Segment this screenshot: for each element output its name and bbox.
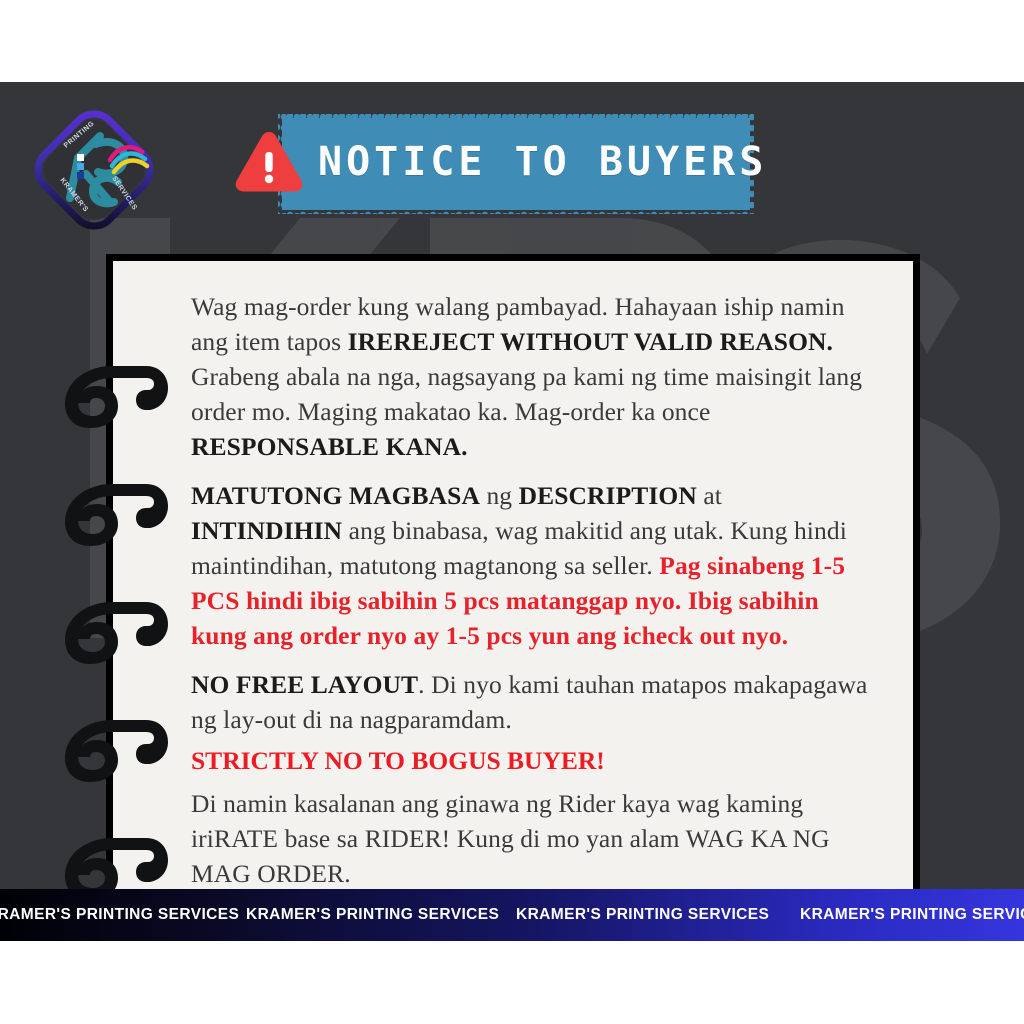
brand-logo: PRINTING KRAMER'S SERVICES bbox=[26, 102, 162, 238]
p1-bold-2: RESPONSABLE KANA. bbox=[191, 432, 468, 461]
p2-text-1: ng bbox=[480, 481, 519, 510]
notice-banner: NOTICE TO BUYERS bbox=[232, 110, 762, 222]
p2-bold-3: INTINDIHIN bbox=[191, 516, 342, 545]
notice-paragraph-3: NO FREE LAYOUT. Di nyo kami tauhan matap… bbox=[191, 667, 879, 737]
p2-bold-2: DESCRIPTION bbox=[519, 481, 697, 510]
footer-brand-text: KRAMER'S PRINTING SERVICES bbox=[800, 906, 1024, 924]
letterbox-bottom bbox=[0, 941, 1024, 1024]
notice-paragraph-1: Wag mag-order kung walang pambayad. Haha… bbox=[191, 289, 879, 464]
notice-paper: Wag mag-order kung walang pambayad. Haha… bbox=[113, 261, 913, 933]
letterbox-top bbox=[0, 0, 1024, 82]
p5-text-1: Di namin kasalanan ang ginawa ng Rider k… bbox=[191, 789, 830, 888]
p3-bold-1: NO FREE LAYOUT bbox=[191, 670, 418, 699]
poster-canvas: PRINTING KRAMER'S SERVICES NOTICE TO BUY… bbox=[0, 82, 1024, 941]
page-title: NOTICE TO BUYERS bbox=[318, 130, 767, 194]
notice-card: Wag mag-order kung walang pambayad. Haha… bbox=[106, 254, 920, 940]
notice-paragraph-2: MATUTONG MAGBASA ng DESCRIPTION at INTIN… bbox=[191, 478, 879, 653]
footer-brand-text: KRAMER'S PRINTING SERVICES bbox=[516, 906, 769, 924]
warning-triangle-icon bbox=[232, 128, 306, 194]
notice-paragraph-5: Di namin kasalanan ang ginawa ng Rider k… bbox=[191, 786, 879, 891]
footer-brand-strip: KRAMER'S PRINTING SERVICESKRAMER'S PRINT… bbox=[0, 889, 1024, 941]
p2-text-2: at bbox=[697, 481, 722, 510]
p2-bold-1: MATUTONG MAGBASA bbox=[191, 481, 480, 510]
screenshot-root: PRINTING KRAMER'S SERVICES NOTICE TO BUY… bbox=[0, 0, 1024, 1024]
p1-text-2: Grabeng abala na nga, nagsayang pa kami … bbox=[191, 362, 862, 426]
p1-bold-1: IREREJECT WITHOUT VALID REASON. bbox=[348, 327, 833, 356]
footer-brand-text: KRAMER'S PRINTING SERVICES bbox=[246, 906, 499, 924]
notice-bogus-warning: STRICTLY NO TO BOGUS BUYER! bbox=[191, 743, 879, 778]
footer-brand-text: KRAMER'S PRINTING SERVICES bbox=[0, 906, 239, 924]
